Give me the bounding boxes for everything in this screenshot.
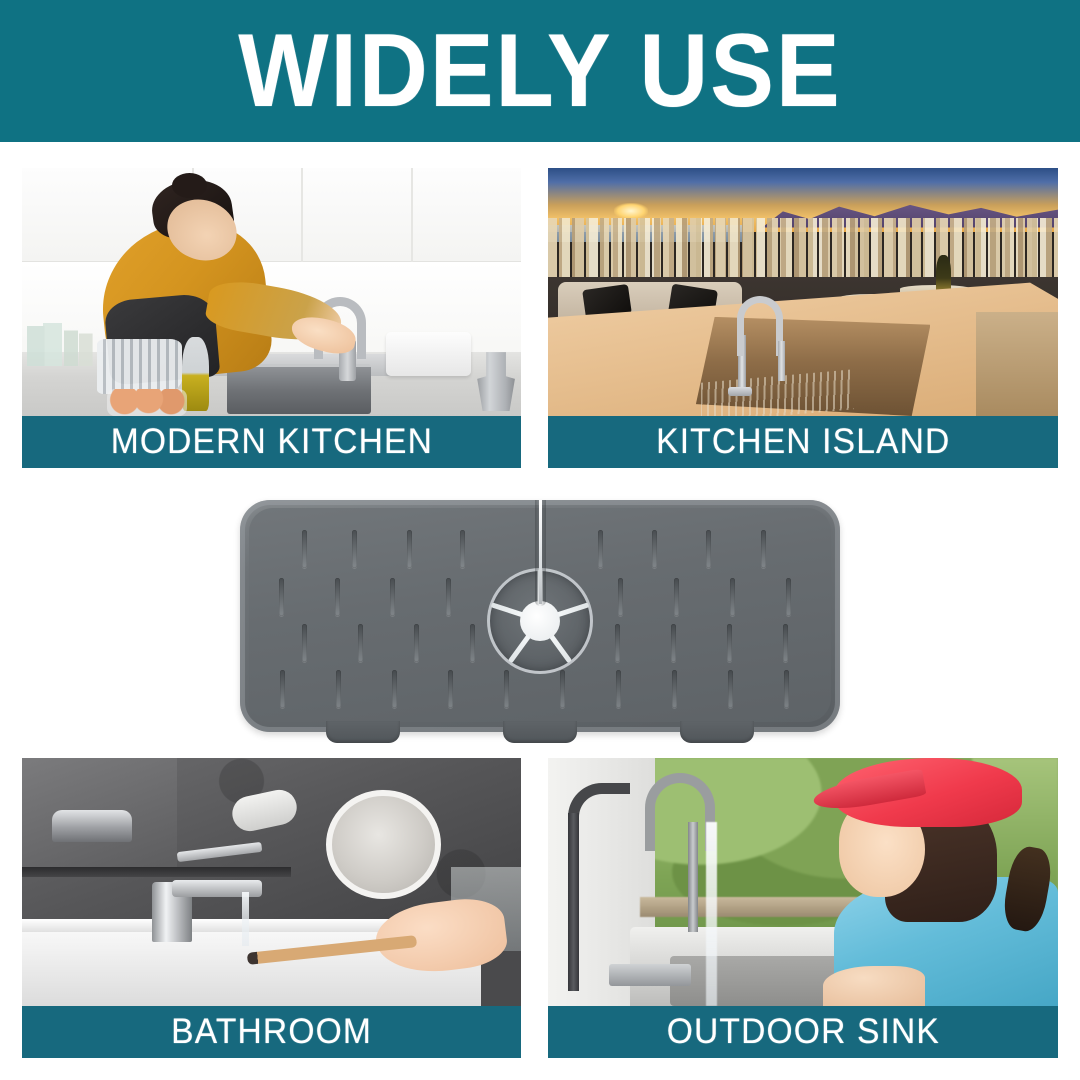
mat-groove xyxy=(672,670,677,708)
water-stream xyxy=(242,892,249,947)
card-bathroom[interactable]: BATHROOM xyxy=(22,758,521,1058)
mat-groove xyxy=(446,578,451,616)
mat-groove xyxy=(786,578,791,616)
product-faucet-mat xyxy=(240,500,840,732)
mat-groove xyxy=(448,670,453,708)
mat-groove xyxy=(470,624,475,662)
mat-insertion-slit xyxy=(539,500,542,604)
caption-bar-kitchen-island: KITCHEN ISLAND xyxy=(548,416,1058,468)
card-outdoor-sink[interactable]: OUTDOOR SINK xyxy=(548,758,1058,1058)
mat-groove xyxy=(335,578,340,616)
photo-bathroom xyxy=(22,758,521,1006)
mat-groove xyxy=(390,578,395,616)
mat-groove xyxy=(460,530,465,568)
mat-groove xyxy=(674,578,679,616)
outdoor-faucet-stem xyxy=(688,822,698,931)
infographic-page: WIDELY USE xyxy=(0,0,1080,1080)
mat-groove xyxy=(783,624,788,662)
wall-ledge xyxy=(22,867,291,877)
mat-drip-tab xyxy=(326,721,400,743)
toaster xyxy=(386,332,471,377)
kitchen-towel xyxy=(97,339,182,394)
caption-bar-modern-kitchen: MODERN KITCHEN xyxy=(22,416,521,468)
mat-groove xyxy=(336,670,341,708)
sun xyxy=(614,203,648,219)
kitchen-cabinets xyxy=(22,168,521,262)
mat-drip-tab xyxy=(680,721,754,743)
mat-groove xyxy=(560,670,565,708)
water-stream xyxy=(706,822,717,1006)
caption-label: KITCHEN ISLAND xyxy=(656,422,950,462)
mat-groove xyxy=(730,578,735,616)
storage-jars xyxy=(27,317,107,367)
caption-label: BATHROOM xyxy=(171,1012,372,1052)
mat-faucet-hole-center xyxy=(520,601,560,641)
mat-groove xyxy=(671,624,676,662)
egg-tray xyxy=(107,389,187,416)
mat-groove xyxy=(504,670,509,708)
mat-groove xyxy=(616,670,621,708)
card-kitchen-island[interactable]: KITCHEN ISLAND xyxy=(548,168,1058,468)
island-cabinet xyxy=(976,312,1058,416)
woman-hair-bun xyxy=(172,173,207,198)
header-banner: WIDELY USE xyxy=(0,0,1080,142)
mat-groove xyxy=(352,530,357,568)
outdoor-faucet-icon xyxy=(645,773,715,851)
mat-groove xyxy=(598,530,603,568)
mat-groove xyxy=(280,670,285,708)
mat-groove xyxy=(728,670,733,708)
mat-groove xyxy=(407,530,412,568)
mat-groove xyxy=(302,530,307,568)
mat-groove xyxy=(279,578,284,616)
soap-dispenser xyxy=(778,341,785,381)
mat-groove xyxy=(784,670,789,708)
card-modern-kitchen[interactable]: MODERN KITCHEN xyxy=(22,168,521,468)
caption-bar-bathroom: BATHROOM xyxy=(22,1006,521,1058)
mat-groove xyxy=(618,578,623,616)
photo-modern-kitchen xyxy=(22,168,521,416)
mat-drip-tab xyxy=(503,721,577,743)
caption-label: MODERN KITCHEN xyxy=(110,422,432,462)
caption-bar-outdoor-sink: OUTDOOR SINK xyxy=(548,1006,1058,1058)
mat-groove xyxy=(652,530,657,568)
mat-groove xyxy=(414,624,419,662)
mat-groove xyxy=(761,530,766,568)
mat-groove xyxy=(615,624,620,662)
caption-label: OUTDOOR SINK xyxy=(666,1012,939,1052)
mat-groove xyxy=(706,530,711,568)
island-faucet-icon xyxy=(737,296,783,356)
page-title: WIDELY USE xyxy=(238,19,841,123)
mat-groove xyxy=(727,624,732,662)
hose-pipe xyxy=(568,813,579,992)
photo-kitchen-island xyxy=(548,168,1058,416)
round-vanity-mirror xyxy=(326,790,441,899)
girl-arm xyxy=(823,966,925,1006)
island-faucet-base xyxy=(728,387,752,396)
mat-body xyxy=(240,500,840,732)
mat-groove xyxy=(392,670,397,708)
city-skyline xyxy=(548,218,1058,282)
photo-outdoor-sink xyxy=(548,758,1058,1006)
mirrored-faucet-reflection xyxy=(52,810,132,842)
mat-groove xyxy=(302,624,307,662)
faucet-valve xyxy=(609,964,691,986)
mat-groove xyxy=(358,624,363,662)
